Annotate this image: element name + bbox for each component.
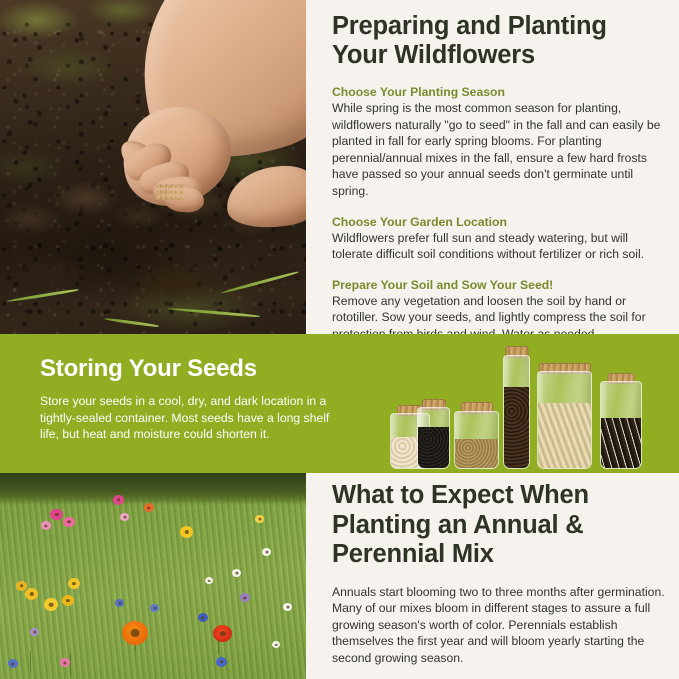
yellow-bloom [16, 581, 27, 591]
pink-bloom [120, 513, 129, 521]
white-bloom [272, 641, 280, 648]
yellow-bloom [68, 578, 80, 589]
jar-tan-seeds [454, 411, 499, 469]
body-planting-season: While spring is the most common season f… [332, 100, 667, 200]
blue-bloom [8, 659, 18, 668]
expect-text-column: What to Expect When Planting an Annual &… [332, 473, 679, 679]
white-bloom [283, 603, 292, 611]
yellow-bloom [255, 515, 264, 523]
preparing-section: Preparing and Planting Your Wildflowers … [0, 0, 679, 334]
wildflower-meadow-photo [0, 473, 306, 679]
blue-bloom [198, 613, 208, 622]
jar-glass [417, 407, 450, 469]
blue-bloom [216, 657, 227, 667]
expect-body: Annuals start blooming two to three mont… [332, 584, 679, 667]
pink-bloom [60, 658, 70, 667]
orange-poppy [122, 621, 148, 645]
jar-glass [503, 355, 530, 469]
jar-glass [600, 381, 642, 469]
subhead-prepare-soil: Prepare Your Soil and Sow Your Seed! [332, 277, 667, 293]
yellow-bloom [180, 526, 193, 538]
white-bloom [232, 569, 241, 577]
pink-bloom [41, 521, 51, 530]
body-garden-location: Wildflowers prefer full sun and steady w… [332, 230, 667, 263]
jar-black-seeds [417, 407, 450, 469]
white-bloom [205, 577, 213, 584]
expect-heading: What to Expect When Planting an Annual &… [332, 481, 679, 570]
flower-stem [70, 653, 71, 675]
what-to-expect-section: What to Expect When Planting an Annual &… [0, 473, 679, 679]
preparing-text-column: Preparing and Planting Your Wildflowers … [332, 0, 679, 334]
subhead-garden-location: Choose Your Garden Location [332, 214, 667, 230]
flower-stem [30, 651, 31, 673]
yellow-bloom [62, 595, 74, 606]
jar-striped-seeds [600, 381, 642, 469]
yellow-bloom [25, 588, 38, 600]
seeds-in-hand [156, 184, 184, 201]
jar-glass [454, 411, 499, 469]
hand-sowing-seeds-in-soil-photo [0, 0, 306, 334]
glass-jars-of-seeds-photo [360, 334, 679, 473]
storing-body: Store your seeds in a cool, dry, and dar… [40, 393, 340, 443]
orange-bloom [144, 503, 154, 512]
blue-bloom [150, 604, 159, 612]
jar-flaked-seeds [537, 371, 592, 469]
purple-bloom [30, 628, 39, 636]
infographic-page: Preparing and Planting Your Wildflowers … [0, 0, 679, 679]
storing-section: Storing Your Seeds Store your seeds in a… [0, 334, 679, 473]
purple-bloom [240, 593, 250, 602]
pink-bloom [63, 517, 75, 527]
white-bloom [262, 548, 271, 556]
yellow-bloom [44, 598, 58, 611]
jar-glass [537, 371, 592, 469]
seed-fill [455, 439, 498, 468]
storing-heading: Storing Your Seeds [40, 354, 340, 384]
preparing-heading: Preparing and Planting Your Wildflowers [332, 12, 667, 70]
jar-tall-brown-seeds [503, 355, 530, 469]
seed-fill [538, 403, 591, 468]
seed-fill [504, 387, 529, 468]
subhead-planting-season: Choose Your Planting Season [332, 84, 667, 100]
storing-text-column: Storing Your Seeds Store your seeds in a… [40, 354, 340, 443]
magenta-bloom [113, 495, 124, 505]
pink-bloom [50, 509, 63, 520]
seed-fill [418, 427, 449, 468]
tree-line [0, 473, 306, 504]
red-poppy [213, 625, 232, 642]
blue-bloom [115, 599, 124, 607]
seed-fill [601, 418, 641, 468]
